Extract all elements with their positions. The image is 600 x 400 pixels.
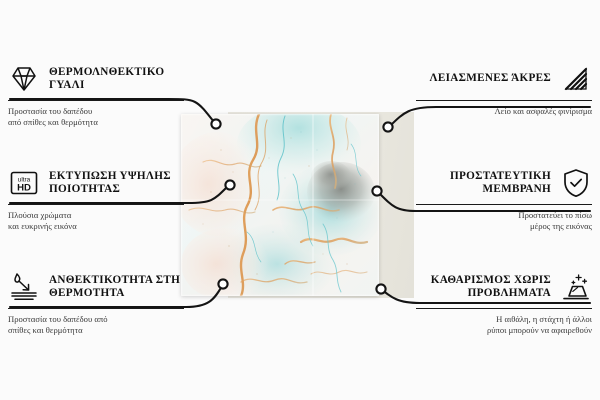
feature-description: Λείο και ασφαλές φινίρισμα	[416, 106, 592, 117]
product-image	[181, 114, 379, 296]
feature-divider	[416, 204, 592, 205]
feature-divider	[416, 308, 592, 309]
feature-description: Προστασία του δαπέδουαπό σπίθες και θερμ…	[8, 106, 184, 128]
feature-header: ΛΕΙΑΣΜΕΝΕΣ ΆΚΡΕΣ	[416, 62, 592, 96]
feature-title: ΕΚΤΥΠΩΣΗ ΥΨΗΛΗΣ ΠΟΙΟΤΗΤΑΣ	[49, 170, 184, 197]
feature-title: ΚΑΘΑΡΙΣΜΟΣ ΧΩΡΙΣ ΠΡΟΒΛΗΜΑΤΑ	[416, 274, 551, 301]
feature-protective-membrane: ΠΡΟΣΤΑΤΕΥΤΙΚΗ ΜΕΜΒΡΑΝΗ Προστατεύει το πί…	[416, 166, 592, 232]
feature-polished-edges: ΛΕΙΑΣΜΕΝΕΣ ΆΚΡΕΣ Λείο και ασφαλές φινίρι…	[416, 62, 592, 117]
feature-description: Προστατεύει το πίσωμέρος της εικόνας	[416, 210, 592, 232]
feature-description: Η αιθάλη, η στάχτη ή άλλοιρύποι μπορούν …	[416, 314, 592, 336]
feature-header: ΑΝΘΕΚΤΙΚΟΤΗΤΑ ΣΤΗ ΘΕΡΜΟΤΗΤΑ	[8, 270, 184, 304]
feature-heat-resistant-glass: ΘΕΡΜΟΛΝΘΕΚΤΙΚΟ ΓΥΑΛΙ Προστασία του δαπέδ…	[8, 62, 184, 128]
feature-title: ΛΕΙΑΣΜΕΝΕΣ ΆΚΡΕΣ	[430, 72, 551, 86]
sparkle-clean-icon	[560, 271, 592, 303]
feature-header: ΠΡΟΣΤΑΤΕΥΤΙΚΗ ΜΕΜΒΡΑΝΗ	[416, 166, 592, 200]
feature-title: ΠΡΟΣΤΑΤΕΥΤΙΚΗ ΜΕΜΒΡΑΝΗ	[416, 170, 551, 197]
ultra-hd-badge-icon: ultra HD	[8, 167, 40, 199]
shield-check-icon	[560, 167, 592, 199]
feature-description: Προστασία του δαπέδου απόσπίθες και θερμ…	[8, 314, 184, 336]
badge-large-text: HD	[17, 182, 31, 193]
feature-title: ΑΝΘΕΚΤΙΚΟΤΗΤΑ ΣΤΗ ΘΕΡΜΟΤΗΤΑ	[49, 274, 184, 301]
feature-header: ΘΕΡΜΟΛΝΘΕΚΤΙΚΟ ΓΥΑΛΙ	[8, 62, 184, 96]
feature-divider	[8, 100, 184, 101]
feature-description: Πλούσια χρώματακαι ευκρινής εικόνα	[8, 210, 184, 232]
feature-heat-durability: ΑΝΘΕΚΤΙΚΟΤΗΤΑ ΣΤΗ ΘΕΡΜΟΤΗΤΑ Προστασία το…	[8, 270, 184, 336]
feature-divider	[8, 308, 184, 309]
feature-divider	[416, 100, 592, 101]
heat-resistant-icon	[8, 271, 40, 303]
infographic-canvas: ΘΕΡΜΟΛΝΘΕΚΤΙΚΟ ΓΥΑΛΙ Προστασία του δαπέδ…	[0, 0, 600, 400]
marble-artwork	[181, 114, 379, 296]
feature-easy-cleaning: ΚΑΘΑΡΙΣΜΟΣ ΧΩΡΙΣ ΠΡΟΒΛΗΜΑΤΑ Η αιθάλη, η …	[416, 270, 592, 336]
feature-high-quality-print: ultra HD ΕΚΤΥΠΩΣΗ ΥΨΗΛΗΣ ΠΟΙΟΤΗΤΑΣ Πλούσ…	[8, 166, 184, 232]
polished-edges-icon	[560, 63, 592, 95]
feature-header: ultra HD ΕΚΤΥΠΩΣΗ ΥΨΗΛΗΣ ΠΟΙΟΤΗΤΑΣ	[8, 166, 184, 200]
diamond-icon	[8, 63, 40, 95]
feature-title: ΘΕΡΜΟΛΝΘΕΚΤΙΚΟ ΓΥΑΛΙ	[49, 66, 184, 93]
feature-divider	[8, 204, 184, 205]
feature-header: ΚΑΘΑΡΙΣΜΟΣ ΧΩΡΙΣ ΠΡΟΒΛΗΜΑΤΑ	[416, 270, 592, 304]
